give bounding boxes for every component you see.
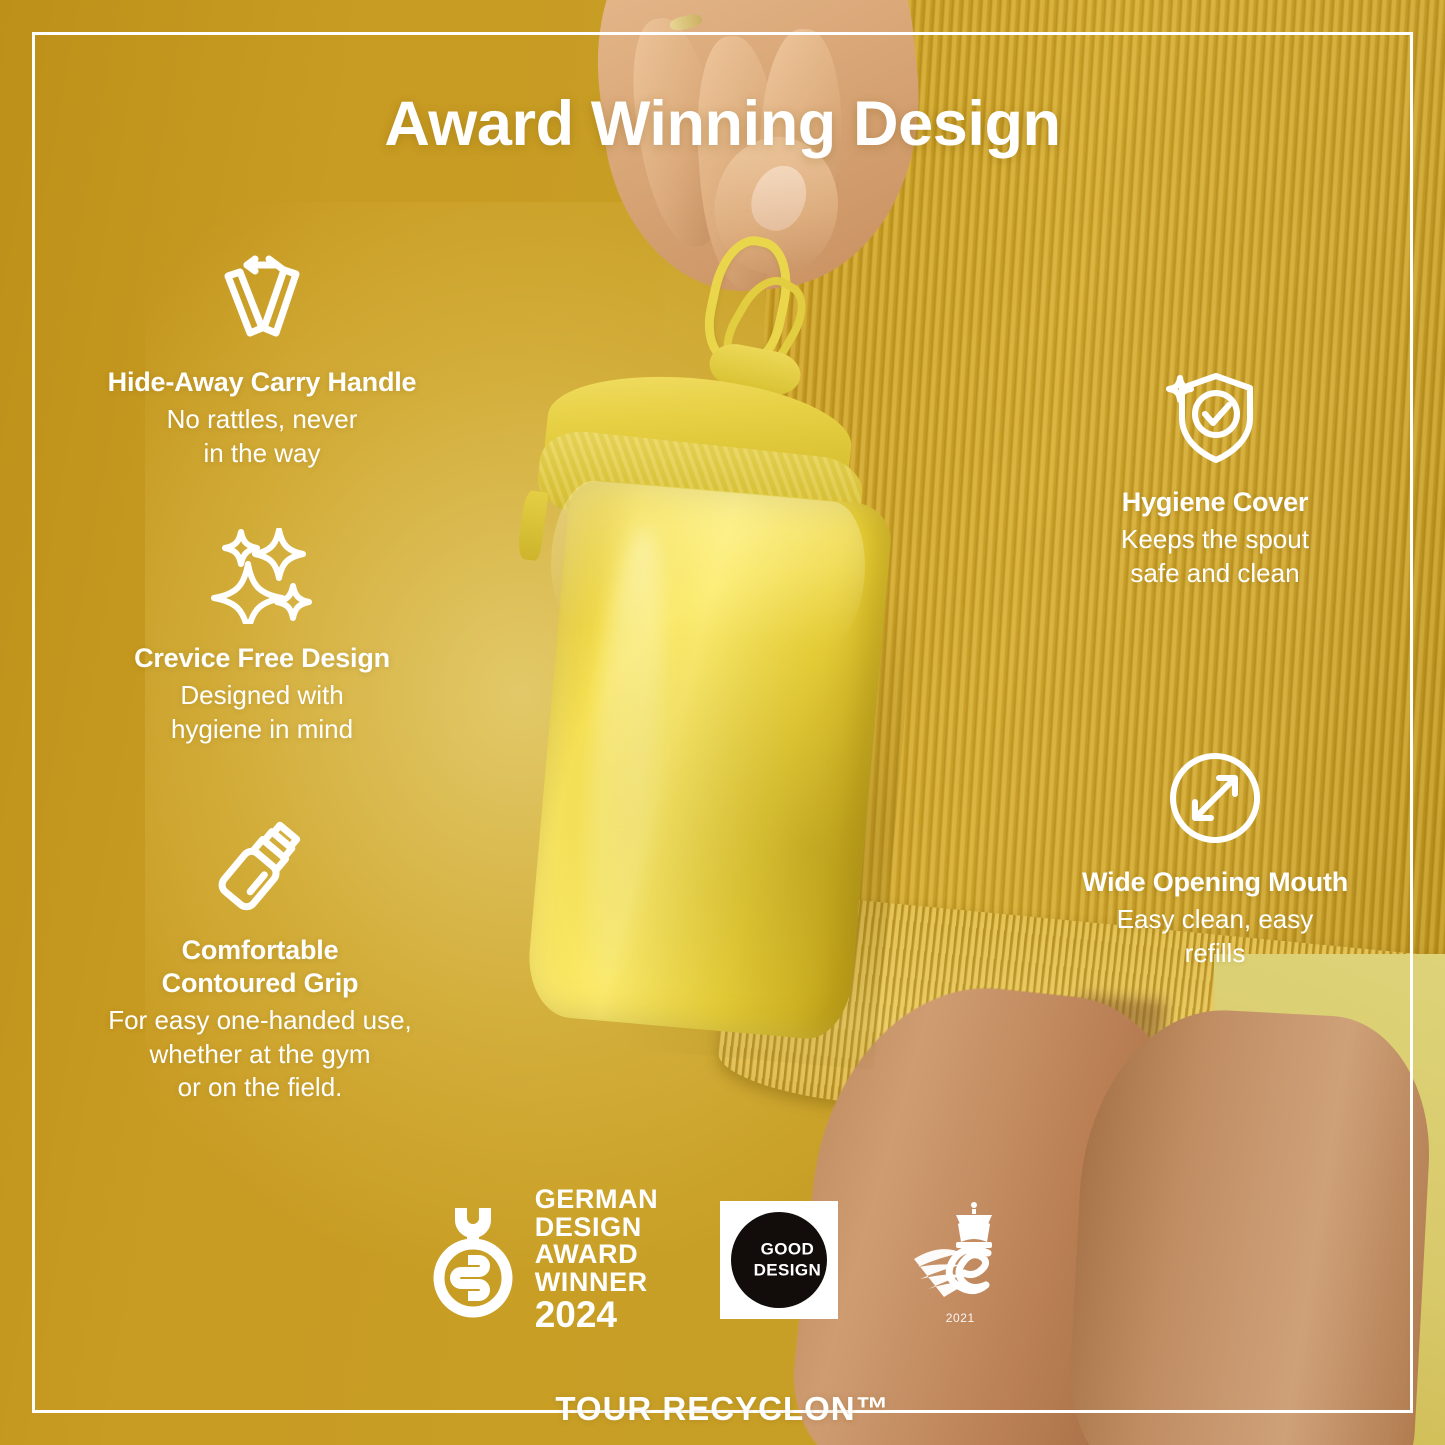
feature-title: Hygiene Cover xyxy=(1015,486,1415,519)
feature-desc-line: For easy one-handed use, xyxy=(50,1004,470,1038)
feature-carry-handle: Hide-Away Carry Handle No rattles, never… xyxy=(62,252,462,471)
gda-line: GERMAN xyxy=(535,1186,659,1214)
queens-award-year: 2021 xyxy=(900,1311,1020,1325)
feature-hygiene-cover: Hygiene Cover Keeps the spout safe and c… xyxy=(1015,372,1415,591)
feature-title-line: Contoured Grip xyxy=(50,967,470,1000)
carry-handle-icon xyxy=(62,252,462,348)
german-design-award-emblem xyxy=(425,1202,521,1318)
feature-desc-line: safe and clean xyxy=(1015,557,1415,591)
badge-german-design-award: GERMAN DESIGN AWARD WINNER 2024 xyxy=(425,1186,659,1334)
bottle-grip-icon xyxy=(50,820,470,916)
good-design-circle: GOOD DESIGN xyxy=(731,1212,827,1308)
feature-desc-line: No rattles, never xyxy=(62,403,462,437)
gda-line: DESIGN xyxy=(535,1214,659,1242)
expand-arrows-icon xyxy=(1015,752,1415,848)
award-badges-row: GERMAN DESIGN AWARD WINNER 2024 GOOD DES… xyxy=(0,1186,1445,1334)
feature-title: Wide Opening Mouth xyxy=(1015,866,1415,899)
shield-check-icon xyxy=(1015,372,1415,468)
badge-good-design: GOOD DESIGN xyxy=(720,1201,838,1319)
feature-title: Crevice Free Design xyxy=(62,642,462,675)
gda-line: WINNER xyxy=(535,1269,659,1297)
german-design-award-text: GERMAN DESIGN AWARD WINNER 2024 xyxy=(535,1186,659,1334)
good-design-text: GOOD DESIGN xyxy=(754,1239,822,1280)
feature-contoured-grip: Comfortable Contoured Grip For easy one-… xyxy=(50,820,470,1105)
feature-desc-line: refills xyxy=(1015,937,1415,971)
queens-award-emblem xyxy=(900,1197,1020,1309)
brand-footer: TOUR RECYCLON™ xyxy=(0,1390,1445,1428)
feature-wide-mouth: Wide Opening Mouth Easy clean, easy refi… xyxy=(1015,752,1415,971)
feature-crevice-free: Crevice Free Design Designed with hygien… xyxy=(62,528,462,747)
sparkle-icon xyxy=(62,528,462,624)
gda-line: AWARD xyxy=(535,1241,659,1269)
feature-desc-line: hygiene in mind xyxy=(62,713,462,747)
gda-year: 2024 xyxy=(535,1296,659,1334)
good-design-line2: DESIGN xyxy=(754,1260,822,1281)
feature-desc-line: or on the field. xyxy=(50,1071,470,1105)
page-title: Award Winning Design xyxy=(0,88,1445,160)
feature-desc-line: Easy clean, easy xyxy=(1015,903,1415,937)
badge-queens-award: 2021 xyxy=(900,1197,1020,1323)
feature-desc-line: whether at the gym xyxy=(50,1038,470,1072)
feature-desc-line: Keeps the spout xyxy=(1015,523,1415,557)
good-design-line1: GOOD xyxy=(754,1239,822,1260)
brand-name: TOUR RECYCLON™ xyxy=(533,1390,911,1428)
feature-title-line: Comfortable xyxy=(50,934,470,967)
feature-title: Hide-Away Carry Handle xyxy=(62,366,462,399)
feature-desc-line: Designed with xyxy=(62,679,462,713)
feature-desc-line: in the way xyxy=(62,437,462,471)
